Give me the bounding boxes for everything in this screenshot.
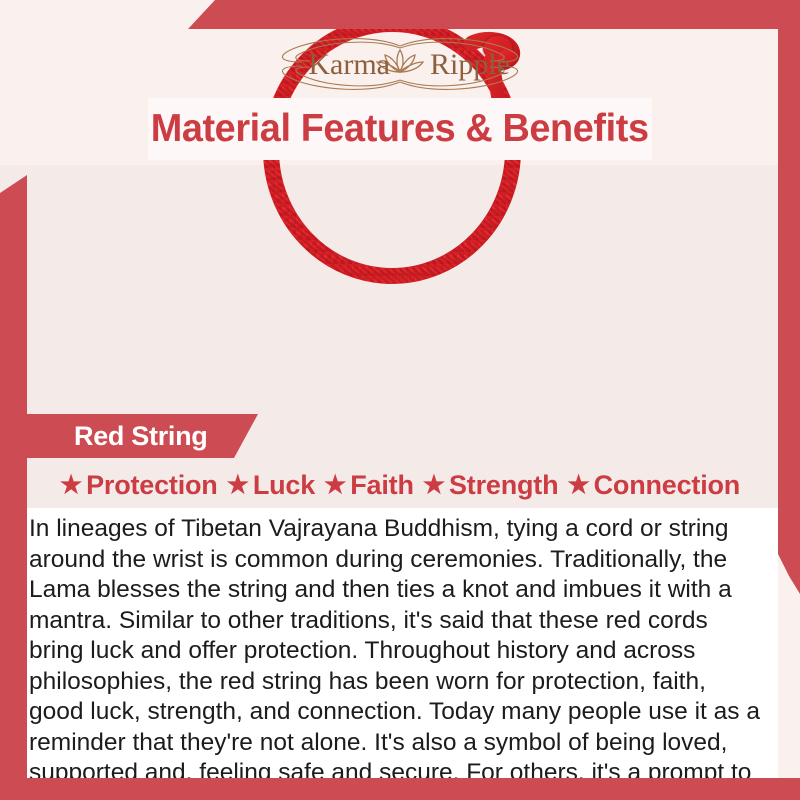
star-icon: ★ bbox=[60, 473, 82, 498]
benefit-label: Luck bbox=[253, 470, 315, 501]
headline-band: Material Features & Benefits bbox=[148, 98, 652, 160]
benefit-item-protection: ★ Protection bbox=[60, 470, 218, 501]
bottom-accent-bar bbox=[0, 778, 800, 800]
description-panel: In lineages of Tibetan Vajrayana Buddhis… bbox=[27, 508, 778, 778]
infographic-page: Karma Ripple Material Features & Benefit… bbox=[0, 0, 800, 800]
right-accent-bar bbox=[778, 29, 800, 594]
benefit-label: Faith bbox=[350, 470, 414, 501]
star-icon: ★ bbox=[227, 473, 249, 498]
description-text: In lineages of Tibetan Vajrayana Buddhis… bbox=[29, 514, 760, 800]
karma-ripple-logo-icon: Karma Ripple bbox=[250, 36, 550, 94]
star-icon: ★ bbox=[423, 473, 445, 498]
logo-word-right: Ripple bbox=[430, 48, 510, 81]
benefit-label: Strength bbox=[449, 470, 558, 501]
benefit-label: Connection bbox=[594, 470, 741, 501]
benefit-item-faith: ★ Faith bbox=[324, 470, 414, 501]
star-icon: ★ bbox=[324, 473, 346, 498]
product-name-ribbon: Red String bbox=[20, 414, 258, 458]
page-title: Material Features & Benefits bbox=[151, 107, 649, 151]
benefit-list: ★ Protection ★ Luck ★ Faith ★ Strength ★… bbox=[0, 462, 800, 508]
benefit-item-strength: ★ Strength bbox=[423, 470, 559, 501]
logo-word-left: Karma bbox=[308, 48, 390, 81]
benefit-item-luck: ★ Luck bbox=[227, 470, 315, 501]
benefit-label: Protection bbox=[86, 470, 218, 501]
brand-logo: Karma Ripple bbox=[0, 34, 800, 96]
benefit-item-connection: ★ Connection bbox=[567, 470, 740, 501]
product-name-label: Red String bbox=[20, 421, 208, 452]
star-icon: ★ bbox=[567, 473, 589, 498]
